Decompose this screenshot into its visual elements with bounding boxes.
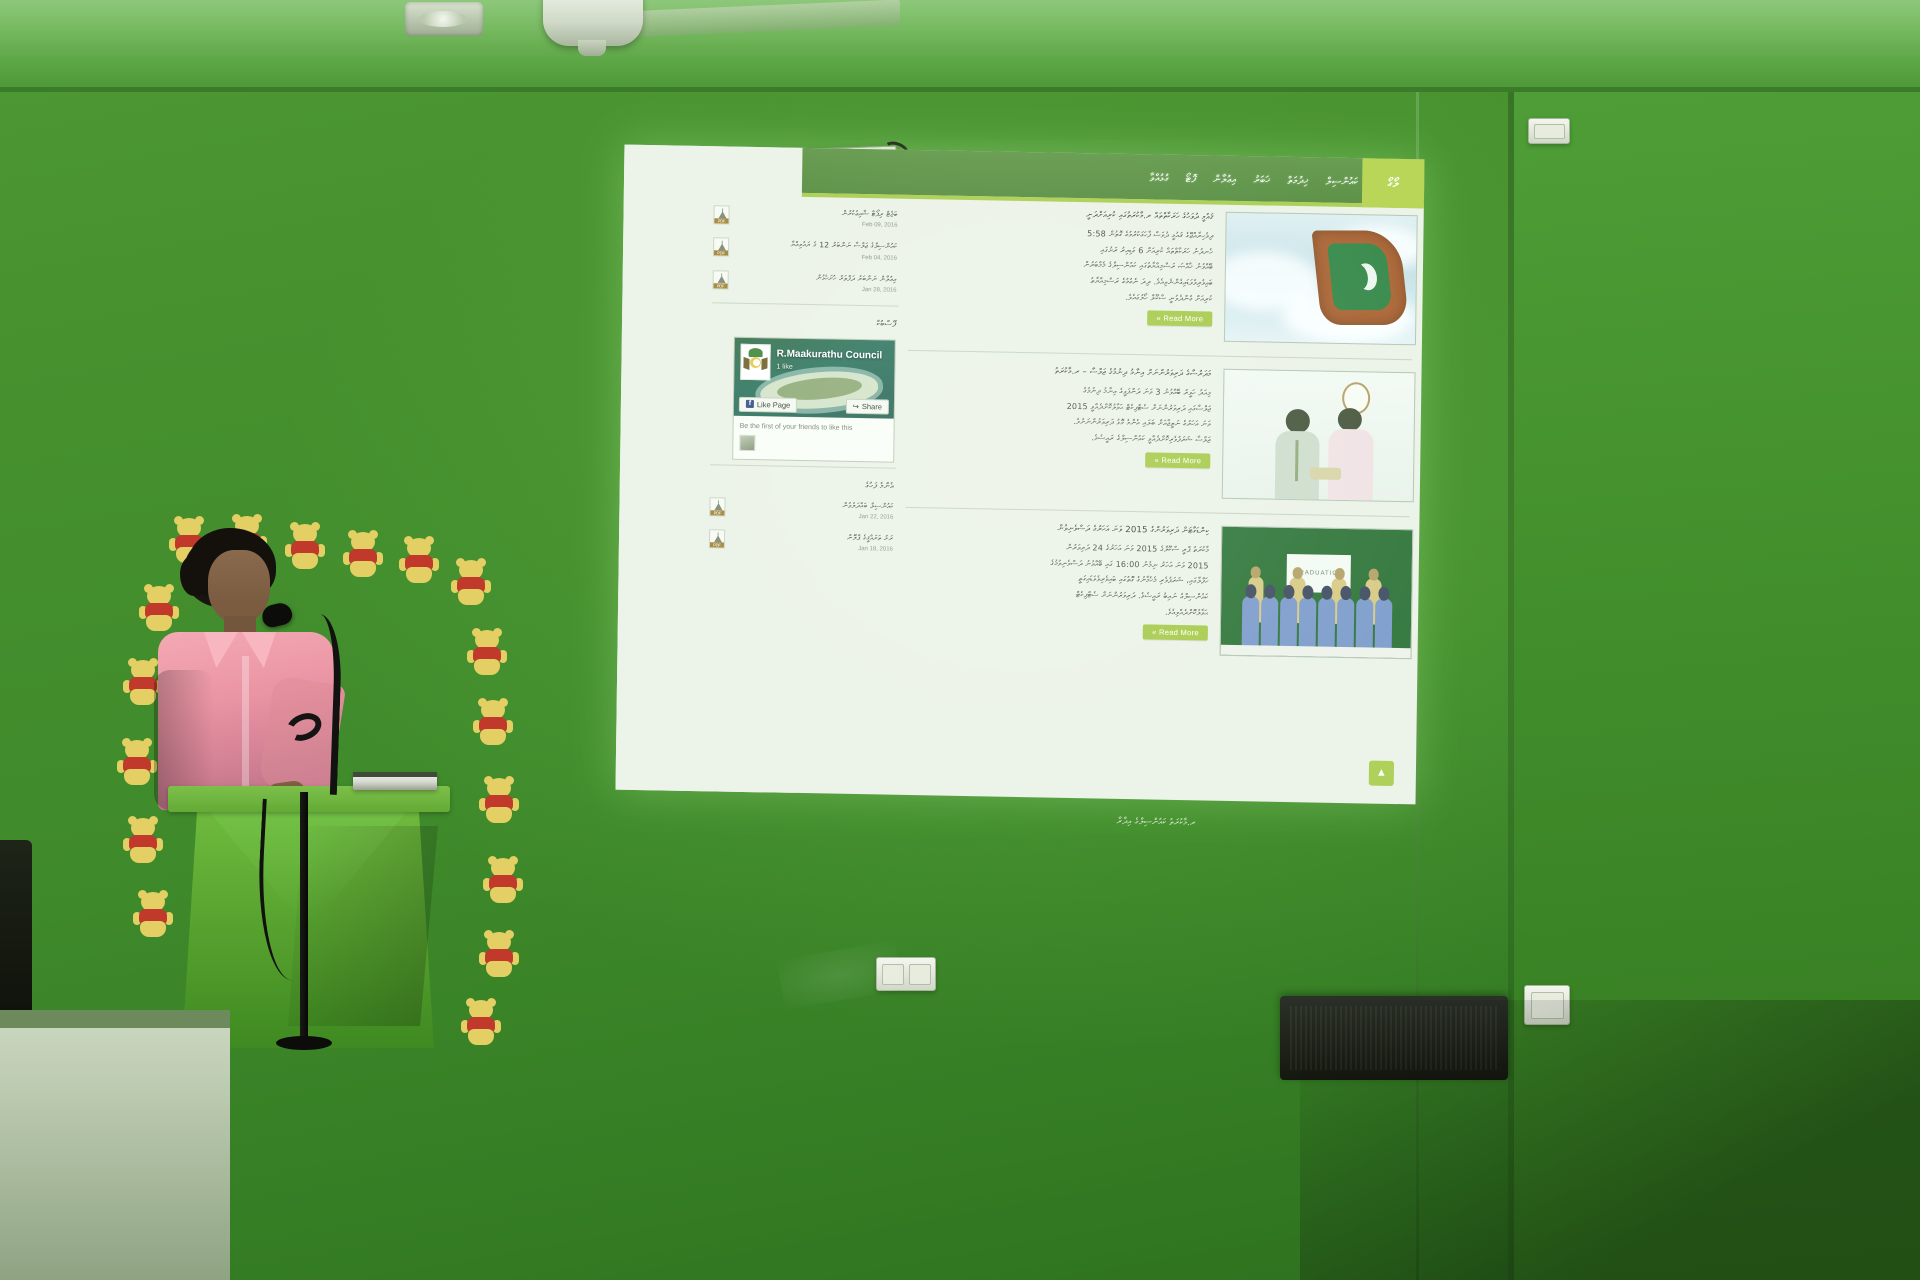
wall-scuff-mark — [777, 940, 904, 1010]
article-item[interactable]: GRADUATION — [899, 516, 1419, 668]
facebook-page-avatar — [740, 344, 771, 381]
facebook-footer: Be the first of your friends to like thi… — [733, 415, 894, 461]
nav-item-council[interactable]: ކައުންސިލް — [1326, 176, 1359, 190]
pdf-icon — [713, 270, 729, 289]
pooh-sticker — [468, 630, 506, 676]
document-date: Feb 04, 2016 — [735, 252, 897, 261]
article-heading: ކިންޑަގާޓަން ދަރިވަރުންގެ 2015 ވަނަ އަހަ… — [905, 520, 1209, 539]
facebook-f-icon: f — [746, 400, 754, 408]
document-title: އިޢުލާން ނަންބަރު ދަފްތަރު ހުށަހެޅުން — [735, 270, 897, 284]
nav-item-news[interactable]: ޚަބަރު — [1253, 174, 1270, 187]
recent-date: Jan 22, 2016 — [731, 512, 893, 521]
pdf-icon — [709, 529, 725, 548]
pooh-sticker — [480, 932, 518, 978]
nav-item-photos[interactable]: ފޮޓޯ — [1186, 173, 1197, 186]
sidebar-document-item[interactable]: ކައުންސިލްގެ ޖަލްސާ ނަންބަރު 12 ގެ ޔައުމ… — [711, 232, 901, 268]
facebook-page-widget[interactable]: R.Maakurathu Council 1 like f Like Page … — [732, 336, 896, 462]
person-left — [1272, 409, 1323, 500]
article-image-graduation: GRADUATION — [1220, 526, 1414, 660]
like-page-button[interactable]: f Like Page — [739, 397, 798, 413]
read-more-button[interactable]: « Read More — [1147, 310, 1212, 326]
article-text: ޤައުމީ ދުވަހުގެ ހަރަކާތްތައް ރ.މާކުރަތުގ… — [908, 206, 1218, 342]
sidebar-divider — [712, 302, 898, 306]
recent-section-heading: އެންމެ ފަހުގެ — [708, 472, 898, 496]
presenter-face — [208, 550, 270, 624]
facebook-cover-photo: R.Maakurathu Council 1 like f Like Page … — [734, 337, 895, 418]
article-text: މަދަރުސާގެ ދަރިވަރުންނަށް އިނާމު ދިނުމުގ… — [906, 363, 1216, 499]
maldives-crest-icon — [744, 348, 766, 376]
share-button[interactable]: ↪ Share — [845, 399, 889, 415]
chevron-up-icon: ▲ — [1376, 768, 1387, 779]
facebook-footer-text: Be the first of your friends to like thi… — [740, 423, 888, 433]
site-navigation-bar: ކައުންސިލް ޚިދުމަތް ޚަބަރު އިޢުލާން ފޮޓޯ… — [802, 148, 1425, 209]
sidebar-divider — [710, 464, 896, 468]
projected-slide: ކައުންސިލް ޚިދުމަތް ޚަބަރު އިޢުލާން ފޮޓޯ… — [615, 145, 1424, 805]
like-page-label: Like Page — [757, 400, 790, 410]
document-date: Jan 28, 2016 — [735, 284, 897, 293]
pdf-icon — [709, 497, 725, 516]
room-scene: ކައުންސިލް ޚިދުމަތް ޚަބަރު އިޢުލާން ފޮޓޯ… — [0, 0, 1920, 1280]
maldives-flag-photo — [1225, 213, 1417, 345]
nav-item-announcements[interactable]: އިޢުލާން — [1213, 173, 1237, 186]
website-page: ކައުންސިލް ޚިދުމަތް ޚަބަރު އިޢުލާން ފޮޓޯ… — [615, 145, 1424, 805]
flag-crescent — [1347, 264, 1370, 290]
pooh-sticker — [462, 1000, 500, 1046]
award-handshake-photo — [1223, 370, 1415, 502]
sidebar-recent-item[interactable]: ކައުންސިލް ބައްދަލުވުން Jan 22, 2016 — [707, 492, 897, 528]
article-item[interactable]: މަދަރުސާގެ ދަރިވަރުންނަށް އިނާމު ދިނުމުގ… — [902, 359, 1422, 511]
slide-footer-text: ރ.މާކުރަތު ކައުންސިލްގެ އިދާރާ — [915, 813, 1397, 832]
ceiling-vent — [405, 2, 483, 36]
corner-shadow — [1300, 1000, 1920, 1280]
share-label: Share — [862, 402, 882, 411]
article-heading: މަދަރުސާގެ ދަރިވަރުންނަށް އިނާމު ދިނުމުގ… — [907, 363, 1211, 382]
sidebar-recent-item[interactable]: ރަށު ތަރައްޤީގެ ޕްލޭން Jan 18, 2016 — [707, 524, 897, 560]
person-right — [1325, 407, 1376, 500]
pooh-sticker — [124, 818, 162, 864]
recent-date: Jan 18, 2016 — [731, 544, 893, 553]
flag-green-field — [1327, 244, 1392, 310]
friend-avatar — [739, 435, 755, 451]
nav-items: ކައުންސިލް ޚިދުމަތް ޚަބަރު އިޢުލާން ފޮޓޯ… — [1149, 154, 1358, 207]
article-heading: ޤައުމީ ދުވަހުގެ ހަރަކާތްތައް ރ.މާކުރަތުގ… — [910, 206, 1214, 225]
document-title: ބަޖެޓް ރިޕޯޓް ޝާއިޢުކުރުން — [736, 206, 898, 220]
site-logo-label: ލޯގޯ — [1388, 176, 1399, 190]
book-on-podium — [353, 772, 437, 790]
site-logo[interactable]: ލޯގޯ — [1362, 158, 1425, 208]
pooh-sticker — [452, 560, 490, 606]
pooh-sticker — [480, 778, 518, 824]
pooh-sticker — [484, 858, 522, 904]
facebook-section-heading: ފޭސްބުކް — [710, 310, 900, 334]
document-date: Feb 09, 2016 — [735, 220, 897, 229]
read-more-button[interactable]: « Read More — [1143, 624, 1208, 640]
microphone-gooseneck — [279, 613, 343, 795]
facebook-like-count: 1 like — [776, 363, 792, 370]
article-text: ކިންޑަގާޓަން ދަރިވަރުންގެ 2015 ވަނަ އަހަ… — [904, 520, 1214, 656]
read-more-button[interactable]: « Read More — [1145, 452, 1210, 468]
recent-title: ކައުންސިލް ބައްދަލުވުން — [731, 497, 893, 511]
pdf-icon — [713, 238, 729, 257]
pooh-sticker — [400, 538, 438, 584]
facebook-page-name: R.Maakurathu Council — [777, 348, 883, 361]
wall-power-socket[interactable] — [1528, 118, 1570, 144]
share-arrow-icon: ↪ — [853, 402, 859, 411]
pdf-icon — [713, 205, 729, 224]
pooh-sticker — [474, 700, 512, 746]
pooh-sticker — [134, 892, 172, 938]
shirt-placket — [242, 656, 249, 806]
article-item[interactable]: ޤައުމީ ދުވަހުގެ ހަރަކާތްތައް ރ.މާކުރަތުގ… — [904, 202, 1424, 354]
ceiling-fan-rod — [578, 40, 606, 56]
sidebar: ބަޖެޓް ރިޕޯޓް ޝާއިޢުކުރުން Feb 09, 2016 … — [703, 200, 901, 804]
nav-item-contact[interactable]: ގުޅުއްވާ — [1150, 172, 1169, 185]
sidebar-document-item[interactable]: ބަޖެޓް ރިޕޯޓް ޝާއިޢުކުރުން Feb 09, 2016 — [711, 200, 901, 236]
recent-title: ރަށު ތަރައްޤީގެ ޕްލޭން — [731, 530, 893, 544]
microphone-base — [276, 1036, 332, 1050]
facebook-actions: f Like Page ↪ Share — [734, 396, 894, 414]
document-title: ކައުންސިލްގެ ޖަލްސާ ނަންބަރު 12 ގެ ޔައުމ… — [735, 238, 897, 252]
ceiling — [0, 0, 1920, 92]
articles-column: ޤައުމީ ދުވަހުގެ ހަރަކާތްތައް ރ.މާކުރަތުގ… — [897, 202, 1423, 805]
sidebar-document-item[interactable]: އިޢުލާން ނަންބަރު ދަފްތަރު ހުށަހެޅުން Ja… — [710, 265, 900, 301]
scroll-to-top-button[interactable]: ▲ — [1369, 761, 1394, 786]
floor-skirting — [0, 1010, 230, 1280]
graduation-group-photo: GRADUATION — [1221, 527, 1413, 659]
nav-item-services[interactable]: ޚިދުމަތް — [1287, 175, 1308, 188]
article-image-award — [1222, 369, 1416, 503]
article-image-flag — [1224, 212, 1418, 346]
